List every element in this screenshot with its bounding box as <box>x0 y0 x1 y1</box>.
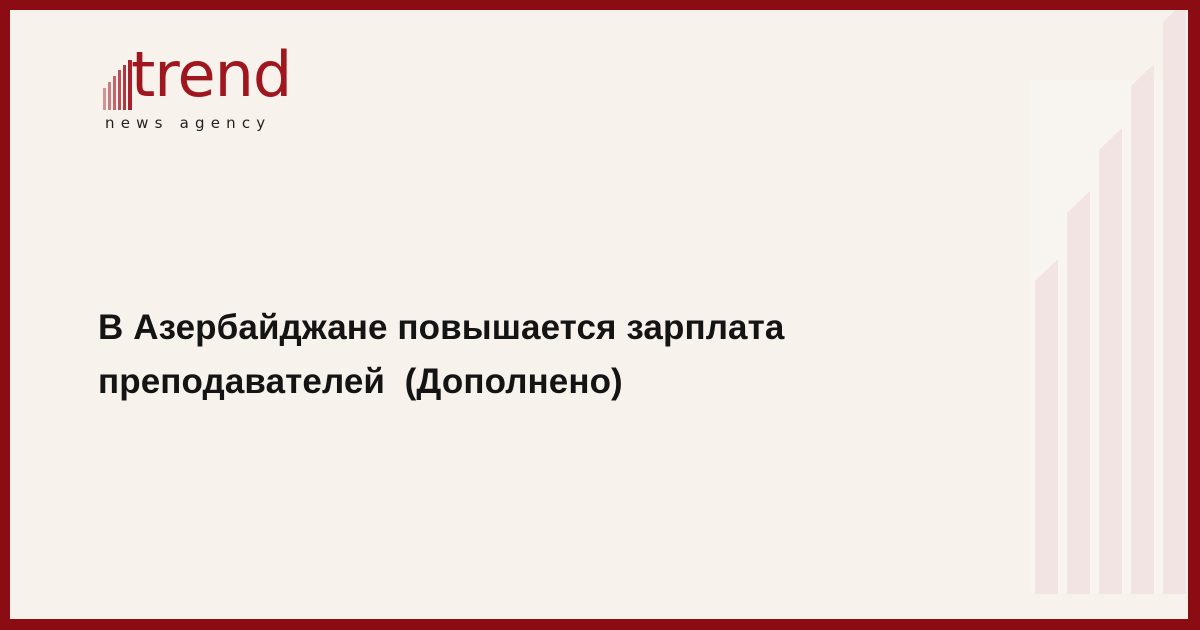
decor-bar-body <box>1163 22 1186 594</box>
logo-mark-bar <box>103 88 106 110</box>
logo-mark-bar <box>123 65 126 110</box>
logo-wordmark: trend <box>131 44 291 106</box>
logo-mark-bar <box>118 70 121 110</box>
decor-bar-body <box>1035 281 1058 594</box>
decor-bar-body <box>1067 213 1090 594</box>
decor-bar-tip <box>1131 64 1154 86</box>
logo-mark-bar <box>113 76 116 110</box>
decor-bar-tip <box>1163 10 1186 22</box>
logo-tagline: news agency <box>105 114 271 132</box>
ascending-bars-graphic <box>1019 10 1188 619</box>
decor-bar-body <box>1099 150 1122 594</box>
decor-bar-tip <box>1067 191 1090 213</box>
decor-bar-tip <box>1099 128 1122 150</box>
logo-mark-bar <box>108 82 111 110</box>
decor-bar <box>1131 64 1154 594</box>
trend-logo[interactable]: trend news agency <box>95 48 355 138</box>
decor-bar-body <box>1131 86 1154 594</box>
card-inner: trend news agency В Азербайджане повышае… <box>10 10 1188 619</box>
decor-bar <box>1067 191 1090 594</box>
news-card: trend news agency В Азербайджане повышае… <box>0 0 1200 630</box>
decor-bar <box>1163 10 1186 594</box>
decor-bar-tip <box>1035 259 1058 281</box>
page-title: В Азербайджане повышается зарплата препо… <box>98 301 918 407</box>
decor-bar <box>1035 259 1058 594</box>
decor-bar <box>1099 128 1122 594</box>
